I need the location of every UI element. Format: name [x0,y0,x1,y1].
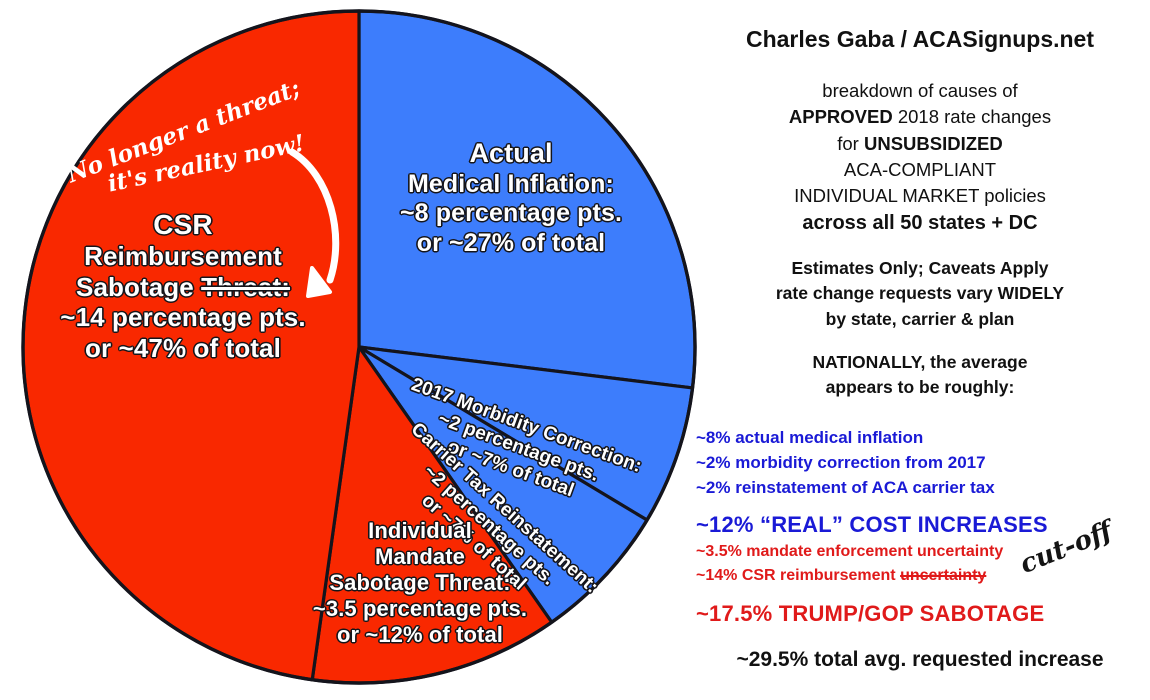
pie-slice-actual-medical-inflation[interactable] [359,11,695,388]
real-cost-item-3: ~2% reinstatement of ACA carrier tax [696,475,1146,500]
grand-total: ~29.5% total avg. requested increase [690,648,1150,672]
caveat-line1: Estimates Only; Caveats Apply [690,256,1150,281]
caveats-block: Estimates Only; Caveats Apply rate chang… [690,256,1150,332]
real-cost-increases-list: ~8% actual medical inflation ~2% morbidi… [696,425,1146,542]
description-line3: for UNSUBSIDIZED [690,131,1150,157]
legend-panel: Charles Gaba / ACASignups.net breakdown … [690,0,1150,700]
chart-description: breakdown of causes of APPROVED 2018 rat… [690,78,1150,238]
sabotage-item-2-struck: uncertainty [900,567,986,584]
sabotage-item-2-keep: ~14% CSR reimbursement [696,567,900,584]
infographic-root: No longer a threat; it's reality now! CS… [0,0,1150,700]
real-cost-item-1: ~8% actual medical inflation [696,425,1146,450]
description-line5: INDIVIDUAL MARKET policies [690,183,1150,209]
real-cost-item-2: ~2% morbidity correction from 2017 [696,450,1146,475]
description-line6: across all 50 states + DC [690,209,1150,237]
pie-chart-svg [0,0,700,700]
pie-slice-csr-reimbursement-sabotage[interactable] [23,11,359,680]
description-line1: breakdown of causes of [690,78,1150,104]
sabotage-total: ~17.5% TRUMP/GOP SABOTAGE [696,597,1146,630]
national-average-block: NATIONALLY, the average appears to be ro… [690,350,1150,401]
description-unsubsidized: UNSUBSIDIZED [864,133,1003,154]
description-line2-rest: 2018 rate changes [893,106,1051,127]
description-approved: APPROVED [789,106,893,127]
author-credit: Charles Gaba / ACASignups.net [690,26,1150,53]
national-line2: appears to be roughly: [690,375,1150,400]
description-line3-pre: for [837,133,864,154]
national-line1: NATIONALLY, the average [690,350,1150,375]
sabotage-item-2: ~14% CSR reimbursement uncertainty [696,564,1146,588]
description-line4: ACA-COMPLIANT [690,157,1150,183]
caveat-line3: by state, carrier & plan [690,307,1150,332]
description-line2: APPROVED 2018 rate changes [690,104,1150,130]
pie-chart: No longer a threat; it's reality now! CS… [0,0,700,700]
caveat-line2: rate change requests vary WIDELY [690,281,1150,306]
pie-slices [23,11,695,683]
